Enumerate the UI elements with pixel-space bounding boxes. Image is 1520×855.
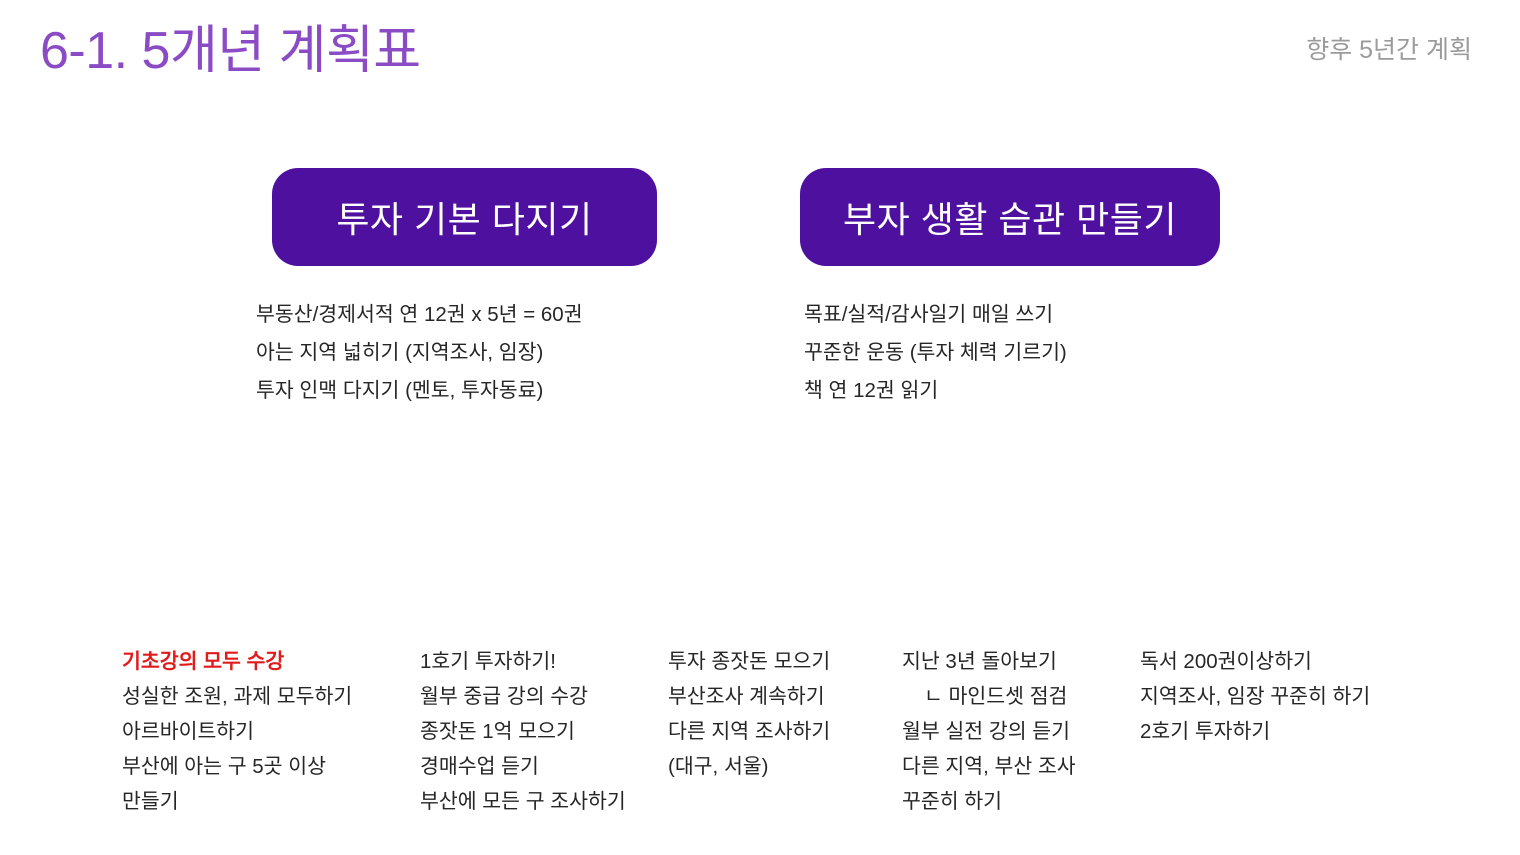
timeline-column-line: 종잣돈 1억 모으기 <box>420 714 626 749</box>
timeline-column-line: 지역조사, 임장 꾸준히 하기 <box>1140 679 1370 714</box>
timeline-column-line: 2호기 투자하기 <box>1140 714 1370 749</box>
goal-group-lines-1: 목표/실적/감사일기 매일 쓰기꾸준한 운동 (투자 체력 기르기)책 연 12… <box>804 296 1067 410</box>
timeline-column-line: 독서 200권이상하기 <box>1140 644 1370 679</box>
timeline-column-line: 1호기 투자하기! <box>420 644 626 679</box>
timeline-column-line: 아르바이트하기 <box>122 714 352 749</box>
timeline-column-2028: 지난 3년 돌아보기ㄴ 마인드셋 점검월부 실전 강의 듣기다른 지역, 부산 … <box>902 644 1076 819</box>
page-kicker: 향후 5년간 계획 <box>1306 30 1472 66</box>
timeline-column-2029: 독서 200권이상하기지역조사, 임장 꾸준히 하기2호기 투자하기 <box>1140 644 1370 749</box>
slide-canvas: 6-1. 5개년 계획표 향후 5년간 계획 투자 기본 다지기 부자 생활 습… <box>0 0 1520 855</box>
page-title: 6-1. 5개년 계획표 <box>40 22 421 82</box>
timeline-column-line: ㄴ 마인드셋 점검 <box>902 679 1076 714</box>
goal-line: 아는 지역 넓히기 (지역조사, 임장) <box>256 334 583 372</box>
goal-line: 목표/실적/감사일기 매일 쓰기 <box>804 296 1067 334</box>
timeline-column-line: 성실한 조원, 과제 모두하기 <box>122 679 352 714</box>
timeline-column-line: 다른 지역 조사하기 <box>668 714 830 749</box>
timeline-column-2025: 기초강의 모두 수강성실한 조원, 과제 모두하기아르바이트하기부산에 아는 구… <box>122 644 352 819</box>
timeline-column-2027: 투자 종잣돈 모으기부산조사 계속하기다른 지역 조사하기(대구, 서울) <box>668 644 830 784</box>
timeline-column-line: (대구, 서울) <box>668 749 830 784</box>
timeline-column-line: 월부 중급 강의 수강 <box>420 679 626 714</box>
timeline-column-line: 만들기 <box>122 784 352 819</box>
timeline-column-line: 꾸준히 하기 <box>902 784 1076 819</box>
timeline-column-line: 투자 종잣돈 모으기 <box>668 644 830 679</box>
timeline-column-line: 월부 실전 강의 듣기 <box>902 714 1076 749</box>
goal-group-lines-0: 부동산/경제서적 연 12권 x 5년 = 60권아는 지역 넓히기 (지역조사… <box>256 296 583 410</box>
timeline-column-line: 부산조사 계속하기 <box>668 679 830 714</box>
timeline-column-line: 다른 지역, 부산 조사 <box>902 749 1076 784</box>
goal-group-pill-0: 투자 기본 다지기 <box>272 168 657 266</box>
timeline-column-line: 지난 3년 돌아보기 <box>902 644 1076 679</box>
goal-line: 꾸준한 운동 (투자 체력 기르기) <box>804 334 1067 372</box>
timeline-column-line: 부산에 모든 구 조사하기 <box>420 784 626 819</box>
timeline: 2025 2026 2027 2028 2029 <box>0 462 1520 637</box>
timeline-column-line: 경매수업 듣기 <box>420 749 626 784</box>
timeline-column-line: 기초강의 모두 수강 <box>122 644 352 679</box>
goal-group-pill-1: 부자 생활 습관 만들기 <box>800 168 1220 266</box>
goal-line: 책 연 12권 읽기 <box>804 372 1067 410</box>
timeline-column-line: 부산에 아는 구 5곳 이상 <box>122 749 352 784</box>
timeline-column-2026: 1호기 투자하기!월부 중급 강의 수강종잣돈 1억 모으기경매수업 듣기부산에… <box>420 644 626 819</box>
goal-line: 부동산/경제서적 연 12권 x 5년 = 60권 <box>256 296 583 334</box>
goal-line: 투자 인맥 다지기 (멘토, 투자동료) <box>256 372 583 410</box>
